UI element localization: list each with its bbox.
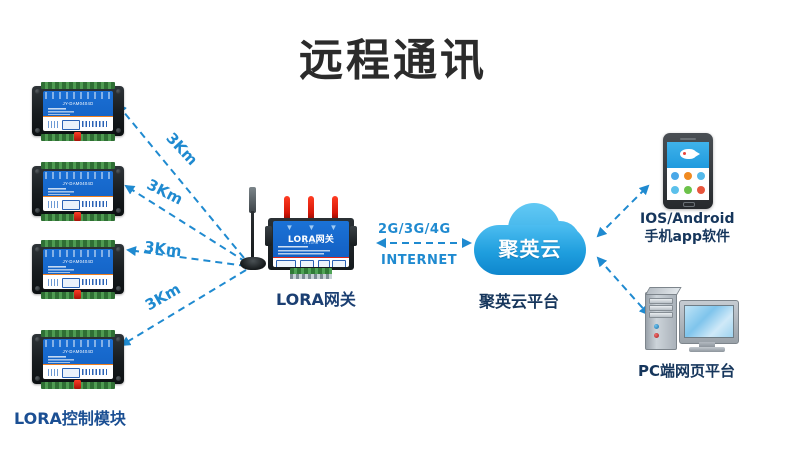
module-display-icon bbox=[62, 200, 80, 210]
power-button-icon bbox=[654, 324, 659, 329]
screw-icon bbox=[116, 337, 121, 342]
module-model-label: JY-DAM0404D bbox=[43, 259, 113, 264]
module-controls bbox=[46, 367, 110, 377]
power-led-icon bbox=[74, 132, 81, 141]
sim-slot-icon bbox=[318, 260, 330, 267]
indicator-dots bbox=[48, 279, 59, 286]
distance-label-1: 3Km bbox=[162, 129, 201, 169]
port-row bbox=[45, 92, 111, 99]
port-icon bbox=[300, 260, 314, 267]
antenna-base bbox=[240, 257, 266, 270]
lora-module-3[interactable]: JY-DAM0404D bbox=[32, 240, 124, 298]
pc-tower-top bbox=[645, 287, 682, 295]
module-pin-row bbox=[82, 201, 109, 207]
network-tech-label: 2G/3G/4G bbox=[378, 222, 451, 237]
indicator-dots bbox=[48, 201, 59, 208]
mobile-phone[interactable] bbox=[663, 133, 713, 209]
power-led-icon bbox=[74, 212, 81, 221]
mount-bracket bbox=[350, 226, 357, 246]
phone-caption-line2: 手机app软件 bbox=[644, 229, 730, 245]
gateway-faceplate: ▼ ▼ ▼ LORA网关 JY-LORA bbox=[273, 221, 349, 267]
gateway-pin-row bbox=[290, 274, 332, 279]
module-spec-text bbox=[48, 188, 108, 195]
screw-icon bbox=[116, 247, 121, 252]
module-display-icon bbox=[62, 278, 80, 288]
module-controls bbox=[46, 199, 110, 209]
module-controls bbox=[46, 119, 110, 129]
phone-speaker-icon bbox=[680, 138, 696, 140]
lora-modules-caption: LORA控制模块 bbox=[14, 405, 126, 429]
link-module-1 bbox=[118, 105, 244, 258]
gateway-model-label: JY-LORA bbox=[273, 241, 349, 245]
module-spec-text bbox=[48, 266, 108, 273]
lora-gateway[interactable]: ▼ ▼ ▼ LORA网关 JY-LORA bbox=[268, 196, 354, 284]
gateway-controls bbox=[276, 259, 346, 267]
port-row bbox=[45, 172, 111, 179]
module-model-label: JY-DAM0404D bbox=[43, 349, 113, 354]
module-pin-row bbox=[82, 121, 109, 127]
desktop-computer[interactable] bbox=[645, 292, 741, 354]
signal-icon: ▼ bbox=[329, 224, 338, 231]
port-row bbox=[45, 250, 111, 257]
module-controls bbox=[46, 277, 110, 287]
screw-icon bbox=[35, 128, 40, 133]
gateway-antenna-icon bbox=[308, 196, 314, 220]
app-icon bbox=[684, 186, 692, 194]
app-icon bbox=[697, 172, 705, 180]
power-led-icon bbox=[74, 380, 81, 389]
activity-led-icon bbox=[654, 333, 659, 338]
antenna-tip bbox=[249, 187, 256, 213]
screw-icon bbox=[116, 128, 121, 133]
mount-bracket bbox=[265, 226, 272, 246]
power-led-icon bbox=[74, 290, 81, 299]
screw-icon bbox=[35, 286, 40, 291]
reset-icon bbox=[332, 260, 346, 267]
module-faceplate: JY-DAM0404D bbox=[43, 339, 113, 379]
terminal-strip-top bbox=[41, 240, 115, 247]
fish-logo-icon bbox=[680, 149, 696, 159]
antenna-rod bbox=[251, 211, 254, 261]
antenna-icon bbox=[240, 187, 266, 279]
terminal-block-icon bbox=[276, 260, 296, 267]
app-icon bbox=[671, 186, 679, 194]
screw-icon bbox=[116, 208, 121, 213]
terminal-strip-top bbox=[41, 330, 115, 337]
lora-module-2[interactable]: JY-DAM0404D bbox=[32, 162, 124, 220]
screw-icon bbox=[35, 169, 40, 174]
module-faceplate: JY-DAM0404D bbox=[43, 171, 113, 211]
app-icon-grid bbox=[670, 171, 706, 196]
module-pin-row bbox=[82, 369, 109, 375]
screw-icon bbox=[35, 337, 40, 342]
module-spec-text bbox=[48, 108, 108, 115]
gateway-spec-text bbox=[278, 246, 344, 255]
network-internet-label: INTERNET bbox=[381, 253, 457, 268]
screw-icon bbox=[116, 89, 121, 94]
drive-bay-icon bbox=[649, 305, 673, 311]
cloud-label: 聚英云 bbox=[474, 233, 586, 262]
screw-icon bbox=[116, 169, 121, 174]
screw-icon bbox=[35, 208, 40, 213]
monitor-screen bbox=[684, 305, 734, 338]
indicator-dots bbox=[48, 121, 59, 128]
cloud-caption: 聚英云平台 bbox=[479, 288, 559, 312]
indicator-dots bbox=[48, 369, 59, 376]
drive-bay-icon bbox=[649, 312, 673, 318]
port-row bbox=[45, 340, 111, 347]
link-cloud-pc bbox=[598, 258, 648, 314]
gateway-antenna-icon bbox=[332, 196, 338, 220]
pc-monitor bbox=[679, 300, 739, 344]
accent-line bbox=[43, 196, 113, 198]
accent-line bbox=[273, 257, 349, 258]
module-display-icon bbox=[62, 120, 80, 130]
gateway-caption: LORA网关 bbox=[276, 286, 356, 310]
module-faceplate: JY-DAM0404D bbox=[43, 249, 113, 289]
module-model-label: JY-DAM0404D bbox=[43, 101, 113, 106]
module-faceplate: JY-DAM0404D bbox=[43, 91, 113, 131]
terminal-strip-top bbox=[41, 162, 115, 169]
screw-icon bbox=[116, 286, 121, 291]
link-module-4 bbox=[122, 270, 246, 345]
signal-icon: ▼ bbox=[285, 224, 294, 231]
monitor-base bbox=[689, 347, 725, 352]
terminal-strip-top bbox=[41, 82, 115, 89]
distance-label-4: 3Km bbox=[142, 280, 184, 314]
gateway-antenna-icon bbox=[284, 196, 290, 220]
pc-caption: PC端网页平台 bbox=[638, 360, 735, 381]
distance-label-3: 3Km bbox=[143, 238, 183, 260]
app-icon bbox=[697, 186, 705, 194]
accent-line bbox=[43, 116, 113, 118]
phone-caption-line1: IOS/Android bbox=[640, 211, 734, 227]
module-model-label: JY-DAM0404D bbox=[43, 181, 113, 186]
module-display-icon bbox=[62, 368, 80, 378]
lora-module-4[interactable]: JY-DAM0404D bbox=[32, 330, 124, 388]
app-icon bbox=[684, 172, 692, 180]
phone-caption: IOS/Android 手机app软件 bbox=[640, 210, 734, 246]
screw-icon bbox=[116, 376, 121, 381]
diagram-canvas: 远程通讯 JY-DAM0404D bbox=[0, 0, 786, 451]
phone-screen bbox=[667, 142, 709, 200]
signal-icon: ▼ bbox=[307, 224, 316, 231]
cloud-platform[interactable]: 聚英云 bbox=[474, 203, 586, 277]
accent-line bbox=[43, 364, 113, 366]
home-button-icon bbox=[683, 202, 695, 207]
screw-icon bbox=[35, 247, 40, 252]
page-title: 远程通讯 bbox=[0, 24, 786, 88]
accent-line bbox=[43, 274, 113, 276]
app-icon bbox=[671, 172, 679, 180]
drive-bay-icon bbox=[649, 298, 673, 304]
module-pin-row bbox=[82, 279, 109, 285]
distance-label-2: 3Km bbox=[144, 175, 186, 208]
module-spec-text bbox=[48, 356, 108, 363]
screw-icon bbox=[35, 376, 40, 381]
screw-icon bbox=[35, 89, 40, 94]
app-banner bbox=[667, 142, 709, 168]
lora-module-1[interactable]: JY-DAM0404D bbox=[32, 82, 124, 140]
